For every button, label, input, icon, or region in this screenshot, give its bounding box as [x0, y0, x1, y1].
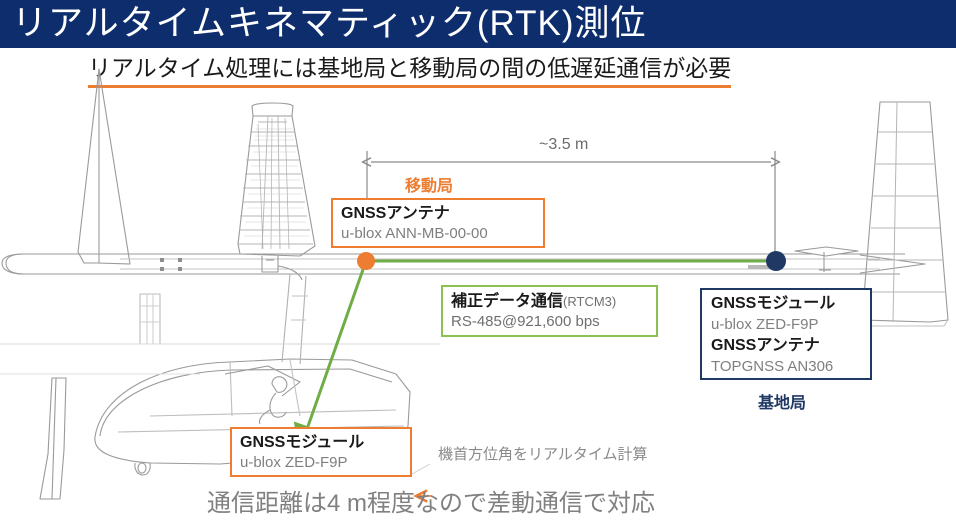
callout-correction-line1: 補正データ通信(RTCM3) — [451, 291, 648, 312]
callout-heading-line2: u-blox ZED-F9P — [240, 453, 402, 473]
page-title: リアルタイムキネマティック(RTK)測位 — [12, 1, 647, 47]
rover-antenna-dot — [357, 252, 375, 270]
callout-correction-data: 補正データ通信(RTCM3) RS-485@921,600 bps — [441, 285, 658, 337]
slide-caption: 通信距離は4 m程度なので差動通信で対応 — [207, 487, 655, 521]
callout-rover-antenna: GNSSアンテナ u-blox ANN-MB-00-00 — [331, 198, 545, 248]
heading-note-text: 機首方位角をリアルタイム計算 — [438, 443, 648, 464]
callout-base-line1: GNSSモジュール — [711, 293, 861, 314]
base-tag-label: 基地局 — [758, 389, 806, 413]
callout-heading-module: GNSSモジュール u-blox ZED-F9P — [230, 427, 412, 477]
callout-base-station: GNSSモジュール u-blox ZED-F9P GNSSアンテナ TOPGNS… — [700, 288, 872, 380]
callout-correction-line1-sub: (RTCM3) — [563, 294, 616, 309]
slide-title-bar: リアルタイムキネマティック(RTK)測位 — [0, 0, 956, 48]
base-antenna-dot — [766, 251, 786, 271]
callout-correction-line2: RS-485@921,600 bps — [451, 312, 648, 332]
airframe-outline — [0, 69, 948, 499]
slide-canvas: リアルタイムキネマティック(RTK)測位 リアルタイム処理には基地局と移動局の間… — [0, 0, 956, 526]
callout-heading-line1: GNSSモジュール — [240, 433, 402, 453]
callout-rover-line2: u-blox ANN-MB-00-00 — [341, 224, 535, 244]
callout-rover-line1: GNSSアンテナ — [341, 204, 535, 224]
rover-tag-label: 移動局 — [405, 172, 453, 196]
callout-base-line2: u-blox ZED-F9P — [711, 314, 861, 335]
dimension-label: ~3.5 m — [539, 136, 588, 154]
callout-base-line3: GNSSアンテナ — [711, 335, 861, 356]
callout-base-line4: TOPGNSS AN306 — [711, 356, 861, 377]
callout-correction-line1-main: 補正データ通信 — [451, 293, 563, 310]
